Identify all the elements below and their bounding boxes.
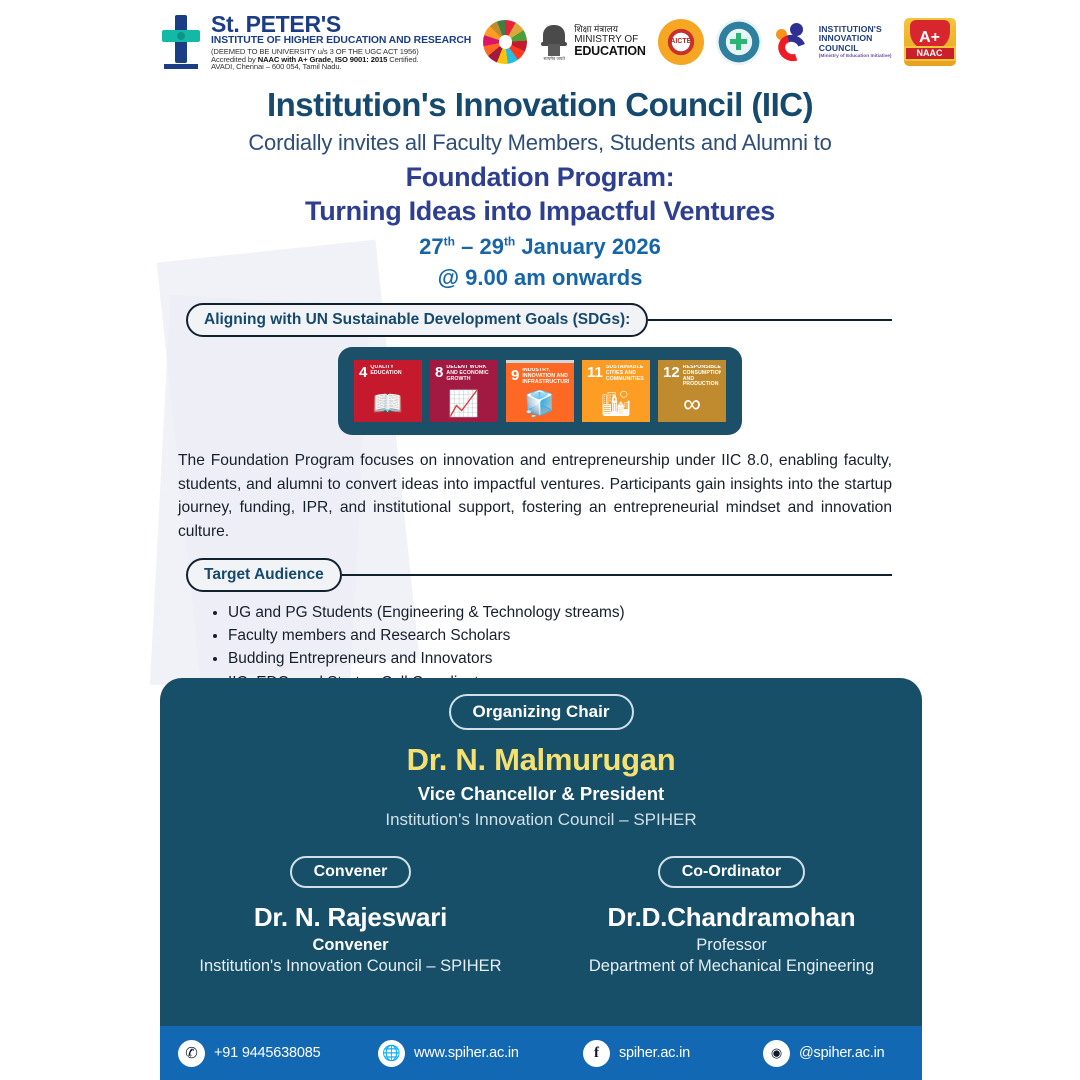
organizing-chair-name: Dr. N. Malmurugan: [160, 742, 922, 778]
event-date: 27th – 29th January 2026: [0, 234, 1080, 260]
coordinator-name: Dr.D.Chandramohan: [541, 902, 922, 933]
program-subtitle: Turning Ideas into Impactful Ventures: [0, 196, 1080, 227]
sdg-label: QUALITY EDUCATION: [370, 365, 417, 377]
organizers-panel: Organizing Chair Dr. N. Malmurugan Vice …: [160, 678, 922, 1080]
sdg-number: 11: [587, 365, 603, 380]
organizing-chair-pill: Organizing Chair: [449, 694, 634, 730]
ministry-line2: EDUCATION: [574, 45, 646, 59]
naac-grade: A+: [919, 29, 940, 47]
quality-assurance-badge-icon: [716, 19, 762, 65]
sdg-card-11: 11SUSTAINABLE CITIES AND COMMUNITIES🏙: [582, 360, 650, 422]
ministry-of-education-logo: सत्यमेव जयते शिक्षा मंत्रालय MINISTRY OF…: [539, 22, 646, 62]
convener-org: Institution's Innovation Council – SPIHE…: [160, 957, 541, 976]
convener-pill: Convener: [290, 856, 412, 888]
instagram-text: @spiher.ac.in: [799, 1045, 884, 1061]
sdg-glyph-icon: 🏙: [582, 392, 650, 417]
naac-badge-icon: A+ NAAC: [904, 18, 956, 66]
iic-line3: COUNCIL: [819, 44, 892, 54]
program-description: The Foundation Program focuses on innova…: [178, 449, 892, 544]
convener-name: Dr. N. Rajeswari: [160, 902, 541, 933]
sdg-wheel-icon: [483, 20, 527, 64]
organizing-chair-role: Vice Chancellor & President: [160, 783, 922, 805]
aicte-badge-icon: AICTE: [658, 19, 704, 65]
coordinator-block: Co-Ordinator Dr.D.Chandramohan Professor…: [541, 856, 922, 976]
page-title: Institution's Innovation Council (IIC): [0, 86, 1080, 124]
institution-logo: St. PETER'S INSTITUTE OF HIGHER EDUCATIO…: [160, 13, 471, 71]
national-emblem-icon: सत्यमेव जयते: [539, 22, 569, 62]
convener-block: Convener Dr. N. Rajeswari Convener Insti…: [160, 856, 541, 976]
convener-role: Convener: [160, 936, 541, 955]
organizing-chair-org: Institution's Innovation Council – SPIHE…: [160, 810, 922, 830]
sdg-glyph-icon: 📖: [354, 392, 422, 417]
sdg-number: 4: [359, 365, 367, 380]
sdg-glyph-icon: 🧊: [506, 392, 574, 417]
sdg-card-4: 4QUALITY EDUCATION📖: [354, 360, 422, 422]
iic-logo: INSTITUTION'S INNOVATION COUNCIL (Minist…: [774, 21, 892, 63]
instagram-icon: ◉: [763, 1040, 790, 1067]
program-title: Foundation Program:: [0, 162, 1080, 193]
institution-address-line: AVADI, Chennai – 600 054, Tamil Nadu.: [211, 63, 471, 71]
naac-label: NAAC: [917, 48, 943, 58]
emblem-caption: सत्यमेव जयते: [540, 56, 568, 62]
website-text: www.spiher.ac.in: [414, 1045, 519, 1061]
audience-heading-rule: [342, 574, 892, 577]
sdg-label: SUSTAINABLE CITIES AND COMMUNITIES: [606, 365, 645, 382]
audience-heading-row: Target Audience: [0, 558, 1080, 592]
iic-mark-icon: [774, 21, 814, 63]
sdg-goals-strip: 4QUALITY EDUCATION📖8DECENT WORK AND ECON…: [0, 347, 1080, 435]
sdg-card-12: 12RESPONSIBLE CONSUMPTION AND PRODUCTION…: [658, 360, 726, 422]
sdg-label: RESPONSIBLE CONSUMPTION AND PRODUCTION: [683, 365, 721, 388]
sdg-glyph-icon: 📈: [430, 392, 498, 417]
coordinator-pill: Co-Ordinator: [658, 856, 806, 888]
invitation-line: Cordially invites all Faculty Members, S…: [0, 130, 1080, 156]
audience-heading-pill: Target Audience: [186, 558, 342, 592]
iic-small-line: (Ministry of Education Initiative): [819, 54, 892, 59]
sdg-heading-pill: Aligning with UN Sustainable Development…: [186, 303, 648, 337]
facebook-icon: f: [583, 1040, 610, 1067]
sdg-number: 9: [511, 368, 519, 383]
contact-phone[interactable]: ✆ +91 9445638085: [160, 1040, 360, 1067]
institution-name: St. PETER'S: [211, 13, 471, 36]
cross-logo-icon: [160, 15, 202, 69]
sdg-label: DECENT WORK AND ECONOMIC GROWTH: [446, 365, 493, 382]
contact-footer: ✆ +91 9445638085 🌐 www.spiher.ac.in f sp…: [160, 1026, 922, 1080]
sdg-glyph-icon: ∞: [658, 392, 726, 417]
list-item: Faculty members and Research Scholars: [228, 625, 1080, 647]
institution-subtitle: INSTITUTE OF HIGHER EDUCATION AND RESEAR…: [211, 36, 471, 47]
coordinator-role: Professor: [541, 936, 922, 955]
event-time: @ 9.00 am onwards: [0, 265, 1080, 291]
contact-facebook[interactable]: f spiher.ac.in: [565, 1040, 745, 1067]
contact-instagram[interactable]: ◉ @spiher.ac.in: [745, 1040, 922, 1067]
list-item: UG and PG Students (Engineering & Techno…: [228, 602, 1080, 624]
facebook-text: spiher.ac.in: [619, 1045, 690, 1061]
poster-root: St. PETER'S INSTITUTE OF HIGHER EDUCATIO…: [0, 0, 1080, 1080]
header-logo-bar: St. PETER'S INSTITUTE OF HIGHER EDUCATIO…: [0, 0, 1080, 78]
sdg-heading-rule: [648, 319, 892, 322]
sdg-card-8: 8DECENT WORK AND ECONOMIC GROWTH📈: [430, 360, 498, 422]
list-item: Budding Entrepreneurs and Innovators: [228, 648, 1080, 670]
coordinator-org: Department of Mechanical Engineering: [541, 957, 922, 976]
sdg-label: INDUSTRY, INNOVATION AND INFRASTRUCTURE: [522, 368, 569, 385]
globe-icon: 🌐: [378, 1040, 405, 1067]
aicte-label: AICTE: [670, 38, 691, 45]
sdg-number: 8: [435, 365, 443, 380]
sdg-card-9: 9INDUSTRY, INNOVATION AND INFRASTRUCTURE…: [506, 360, 574, 422]
title-block: Institution's Innovation Council (IIC) C…: [0, 78, 1080, 291]
phone-text: +91 9445638085: [214, 1045, 320, 1061]
phone-icon: ✆: [178, 1040, 205, 1067]
contact-website[interactable]: 🌐 www.spiher.ac.in: [360, 1040, 565, 1067]
sdg-number: 12: [663, 365, 680, 380]
sdg-heading-row: Aligning with UN Sustainable Development…: [0, 303, 1080, 337]
